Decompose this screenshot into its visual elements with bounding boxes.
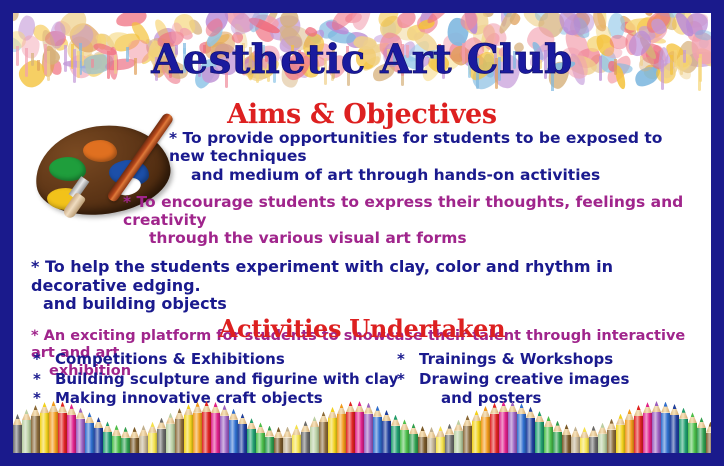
aim-item-3: * To help the students experiment with c…: [31, 258, 701, 315]
pencil-lead-point: [25, 409, 29, 414]
pencil-barrel: [490, 414, 499, 453]
pencil-barrel: [472, 421, 481, 453]
pencil-lead-point: [412, 423, 416, 428]
pencil-barrel: [76, 419, 85, 453]
pencil-barrel: [535, 422, 544, 453]
pencil-barrel: [148, 433, 157, 453]
activities-undertaken-heading: Activities Undertaken: [13, 314, 711, 343]
activity-label: Competitions & Exhibitions: [55, 350, 285, 368]
pencil-lead-point: [241, 413, 245, 418]
pencil-icon: [544, 416, 553, 453]
aim-bullet-3: *: [31, 257, 39, 276]
pencil-barrel: [436, 437, 445, 453]
poster-root: Aesthetic Art Club Aims & Objectives * T…: [0, 0, 724, 466]
pencil-barrel: [328, 418, 337, 453]
pencil-barrel: [310, 427, 319, 453]
pencil-barrel: [103, 432, 112, 453]
pencil-lead-point: [79, 408, 83, 413]
pencil-lead-point: [349, 401, 353, 406]
pencil-icon: [148, 422, 157, 453]
colored-pencils-border: [13, 395, 711, 453]
pencil-barrel: [589, 437, 598, 453]
pencil-lead-point: [673, 404, 677, 409]
pencil-lead-point: [88, 412, 92, 417]
pencil-icon: [490, 403, 499, 453]
pencil-barrel: [58, 413, 67, 453]
pencil-lead-point: [367, 403, 371, 408]
pencil-icon: [589, 426, 598, 453]
pencil-lead-point: [124, 427, 128, 432]
pencil-icon: [337, 403, 346, 453]
pencil-barrel: [706, 433, 711, 453]
pencil-barrel: [409, 434, 418, 453]
pencil-lead-point: [232, 409, 236, 414]
pencil-lead-point: [151, 422, 155, 427]
pencil-lead-point: [205, 401, 209, 406]
pencil-lead-point: [457, 420, 461, 425]
pencil-lead-point: [529, 407, 533, 412]
activity-item: *Trainings & Workshops: [397, 350, 711, 370]
pencil-barrel: [679, 419, 688, 453]
pencil-icon: [193, 402, 202, 453]
pencil-barrel: [427, 438, 436, 453]
pencil-icon: [265, 426, 274, 454]
activity-item: *Building sculpture and figurine with cl…: [33, 370, 395, 390]
pencil-lead-point: [646, 402, 650, 407]
pencil-icon: [328, 407, 337, 453]
pencil-icon: [121, 427, 130, 453]
pencil-lead-point: [16, 414, 20, 419]
pencil-barrel: [112, 436, 121, 453]
pencil-lead-point: [61, 402, 65, 407]
pencil-icon: [463, 415, 472, 453]
pencil-barrel: [220, 416, 229, 453]
pencil-barrel: [22, 420, 31, 453]
pencil-lead-point: [556, 421, 560, 426]
poster-canvas: Aesthetic Art Club Aims & Objectives * T…: [13, 13, 711, 453]
pencil-lead-point: [304, 421, 308, 426]
pencil-lead-point: [394, 415, 398, 420]
pencil-lead-point: [376, 406, 380, 411]
aim-bullet-2: *: [123, 193, 131, 211]
pencil-barrel: [355, 412, 364, 453]
pencil-barrel: [85, 423, 94, 453]
pencil-lead-point: [250, 418, 254, 423]
pencil-lead-point: [583, 427, 587, 432]
pencil-icon: [454, 420, 463, 453]
pencil-icon: [310, 416, 319, 453]
pencil-lead-point: [358, 401, 362, 406]
pencil-icon: [40, 402, 49, 453]
activity-bullet: *: [33, 370, 55, 390]
pencil-lead-point: [448, 424, 452, 429]
pencil-barrel: [661, 413, 670, 453]
pencil-barrel: [319, 422, 328, 453]
pencil-icon: [382, 410, 391, 453]
pencil-icon: [661, 402, 670, 453]
pencil-lead-point: [133, 427, 137, 432]
pencil-icon: [697, 417, 706, 453]
pencil-icon: [130, 427, 139, 453]
pencil-lead-point: [187, 404, 191, 409]
pencil-lead-point: [682, 408, 686, 413]
pencil-icon: [364, 403, 373, 453]
pencil-lead-point: [655, 401, 659, 406]
pencil-icon: [58, 402, 67, 453]
pencil-icon: [571, 426, 580, 453]
pencil-lead-point: [214, 402, 218, 407]
pencil-icon: [445, 424, 454, 453]
pencil-lead-point: [484, 406, 488, 411]
pencil-icon: [256, 422, 265, 453]
pencil-barrel: [292, 435, 301, 453]
pencil-icon: [175, 408, 184, 453]
pencil-barrel: [697, 428, 706, 453]
pencil-barrel: [481, 417, 490, 453]
pencil-lead-point: [664, 402, 668, 407]
pencil-barrel: [652, 412, 661, 453]
pencil-icon: [229, 409, 238, 453]
pencil-lead-point: [592, 426, 596, 431]
pencil-icon: [472, 410, 481, 453]
pencil-lead-point: [160, 418, 164, 423]
aim-item-2: * To encourage students to express their…: [123, 193, 695, 248]
pencil-lead-point: [295, 424, 299, 429]
pencil-icon: [562, 424, 571, 453]
pencil-barrel: [175, 419, 184, 453]
activity-item: *Competitions & Exhibitions: [33, 350, 395, 370]
pencil-lead-point: [637, 405, 641, 410]
pencil-barrel: [184, 415, 193, 453]
pencil-barrel: [193, 413, 202, 453]
pencil-icon: [499, 401, 508, 453]
aims-list: * To provide opportunities for students …: [13, 129, 711, 383]
pencil-icon: [166, 413, 175, 453]
pencil-barrel: [238, 424, 247, 453]
pencil-barrel: [247, 429, 256, 453]
pencil-barrel: [670, 415, 679, 453]
pencil-barrel: [544, 427, 553, 453]
pencil-lead-point: [520, 403, 524, 408]
pencil-barrel: [571, 437, 580, 453]
pencil-barrel: [580, 438, 589, 453]
pencil-barrel: [382, 421, 391, 453]
pencil-icon: [418, 426, 427, 453]
pencil-lead-point: [52, 401, 56, 406]
pencil-icon: [670, 404, 679, 453]
pencil-icon: [652, 401, 661, 453]
pencil-icon: [391, 415, 400, 453]
pencil-barrel: [301, 432, 310, 453]
pencil-icon: [184, 404, 193, 453]
pencil-icon: [301, 421, 310, 453]
pencil-barrel: [67, 415, 76, 453]
aim-text-2-cont: through the various visual art forms: [149, 229, 695, 247]
pencil-lead-point: [502, 401, 506, 406]
pencil-barrel: [130, 438, 139, 453]
pencil-lead-point: [547, 416, 551, 421]
pencil-icon: [427, 427, 436, 453]
aim-text-3: To help the students experiment with cla…: [31, 257, 613, 295]
aim-text-1-cont: and medium of art through hands-on activ…: [191, 166, 697, 184]
aim-text-3-cont: and building objects: [43, 295, 701, 314]
pencil-lead-point: [286, 427, 290, 432]
pencil-lead-point: [340, 403, 344, 408]
pencil-icon: [616, 414, 625, 453]
pencil-icon: [688, 412, 697, 453]
pencil-icon: [625, 409, 634, 453]
pencil-lead-point: [538, 411, 542, 416]
pencil-barrel: [211, 413, 220, 453]
pencil-barrel: [607, 430, 616, 453]
pencil-barrel: [40, 413, 49, 453]
pencil-lead-point: [403, 419, 407, 424]
pencil-barrel: [229, 420, 238, 453]
pencil-lead-point: [475, 410, 479, 415]
pencil-barrel: [166, 424, 175, 453]
pencil-barrel: [454, 431, 463, 453]
pencil-lead-point: [601, 423, 605, 428]
pencil-lead-point: [511, 401, 515, 406]
pencil-lead-point: [196, 402, 200, 407]
pencil-lead-point: [691, 412, 695, 417]
pencil-barrel: [400, 430, 409, 453]
pencil-icon: [292, 424, 301, 453]
page-title: Aesthetic Art Club: [13, 36, 711, 83]
splatter-blob: [426, 13, 452, 25]
pencil-barrel: [616, 425, 625, 453]
pencil-barrel: [634, 416, 643, 453]
pencil-lead-point: [223, 405, 227, 410]
aim-item-1: * To provide opportunities for students …: [169, 129, 697, 184]
pencil-lead-point: [574, 426, 578, 431]
pencil-icon: [94, 417, 103, 453]
pencil-barrel: [508, 412, 517, 453]
activity-bullet: *: [33, 350, 55, 370]
pencil-barrel: [463, 426, 472, 453]
pencil-barrel: [562, 435, 571, 453]
aim-text-1: To provide opportunities for students to…: [169, 129, 662, 165]
pencil-barrel: [274, 438, 283, 453]
pencil-lead-point: [70, 404, 74, 409]
pencil-barrel: [391, 426, 400, 453]
pencil-lead-point: [322, 411, 326, 416]
pencil-lead-point: [268, 426, 272, 431]
pencil-icon: [112, 425, 121, 453]
pencil-icon: [400, 419, 409, 453]
pencil-barrel: [445, 435, 454, 453]
pencil-icon: [643, 402, 652, 453]
pencil-barrel: [121, 438, 130, 453]
pencil-barrel: [13, 425, 22, 453]
pencil-lead-point: [439, 426, 443, 431]
pencil-icon: [13, 414, 22, 453]
pencil-barrel: [598, 434, 607, 453]
pencil-barrel: [31, 416, 40, 453]
pencil-icon: [409, 423, 418, 453]
activity-label: Building sculpture and figurine with cla…: [55, 370, 398, 388]
aim-text-2: To encourage students to express their t…: [123, 193, 683, 229]
pencil-barrel: [337, 414, 346, 453]
pencil-barrel: [688, 423, 697, 453]
pencil-lead-point: [430, 427, 434, 432]
pencil-barrel: [157, 429, 166, 453]
pencil-barrel: [553, 432, 562, 453]
pencil-lead-point: [43, 402, 47, 407]
pencil-barrel: [499, 412, 508, 453]
pencil-icon: [598, 423, 607, 453]
pencil-icon: [346, 401, 355, 453]
pencil-icon: [157, 418, 166, 453]
pencil-icon: [535, 411, 544, 453]
pencil-lead-point: [709, 422, 712, 427]
activity-label: Drawing creative images: [419, 370, 629, 388]
activity-bullet: *: [397, 350, 419, 370]
pencil-lead-point: [142, 425, 146, 430]
pencil-icon: [607, 419, 616, 453]
pencil-barrel: [283, 438, 292, 453]
pencil-icon: [706, 422, 711, 453]
pencil-lead-point: [466, 415, 470, 420]
pencil-icon: [211, 402, 220, 453]
pencil-lead-point: [277, 427, 281, 432]
pencil-lead-point: [169, 413, 173, 418]
pencil-icon: [508, 401, 517, 453]
pencil-barrel: [517, 414, 526, 453]
splatter-blob: [350, 13, 374, 31]
pencil-icon: [247, 418, 256, 453]
pencil-icon: [103, 421, 112, 453]
pencil-lead-point: [610, 419, 614, 424]
pencil-icon: [31, 405, 40, 453]
pencil-lead-point: [421, 426, 425, 431]
pencil-barrel: [364, 414, 373, 453]
pencil-barrel: [526, 418, 535, 453]
pencil-lead-point: [700, 417, 704, 422]
pencil-lead-point: [619, 414, 623, 419]
pencil-icon: [85, 412, 94, 453]
pencil-barrel: [346, 412, 355, 453]
pencil-barrel: [256, 433, 265, 453]
pencil-icon: [139, 425, 148, 453]
pencil-lead-point: [34, 405, 38, 410]
pencil-icon: [274, 427, 283, 453]
pencil-lead-point: [493, 403, 497, 408]
pencil-lead-point: [259, 422, 263, 427]
pencil-icon: [202, 401, 211, 453]
pencil-lead-point: [565, 424, 569, 429]
pencil-icon: [220, 405, 229, 453]
pencil-barrel: [625, 420, 634, 453]
pencil-icon: [22, 409, 31, 453]
aim-bullet-1: *: [169, 129, 177, 147]
pencil-barrel: [643, 413, 652, 453]
pencil-lead-point: [178, 408, 182, 413]
pencil-icon: [76, 408, 85, 453]
pencil-icon: [553, 421, 562, 453]
pencil-icon: [283, 427, 292, 453]
pencil-barrel: [265, 437, 274, 454]
pencil-barrel: [139, 436, 148, 453]
pencil-barrel: [94, 428, 103, 453]
activity-label: Trainings & Workshops: [419, 350, 613, 368]
pencil-icon: [238, 413, 247, 453]
pencil-icon: [517, 403, 526, 453]
pencil-icon: [481, 406, 490, 453]
splatter-blob: [13, 13, 19, 21]
pencil-icon: [355, 401, 364, 453]
pencil-barrel: [49, 412, 58, 453]
pencil-lead-point: [385, 410, 389, 415]
pencil-icon: [526, 407, 535, 453]
pencil-barrel: [202, 412, 211, 453]
activity-bullet: *: [397, 370, 419, 390]
pencil-lead-point: [115, 425, 119, 430]
pencil-lead-point: [97, 417, 101, 422]
pencil-lead-point: [331, 407, 335, 412]
pencil-icon: [436, 426, 445, 453]
pencil-lead-point: [628, 409, 632, 414]
pencil-icon: [319, 411, 328, 453]
pencil-barrel: [418, 437, 427, 453]
pencil-icon: [373, 406, 382, 453]
pencil-barrel: [373, 417, 382, 453]
pencil-icon: [580, 427, 589, 453]
pencil-icon: [49, 401, 58, 453]
pencil-lead-point: [106, 421, 110, 426]
pencil-lead-point: [313, 416, 317, 421]
pencil-icon: [67, 404, 76, 453]
pencil-icon: [634, 405, 643, 453]
pencil-icon: [679, 408, 688, 453]
